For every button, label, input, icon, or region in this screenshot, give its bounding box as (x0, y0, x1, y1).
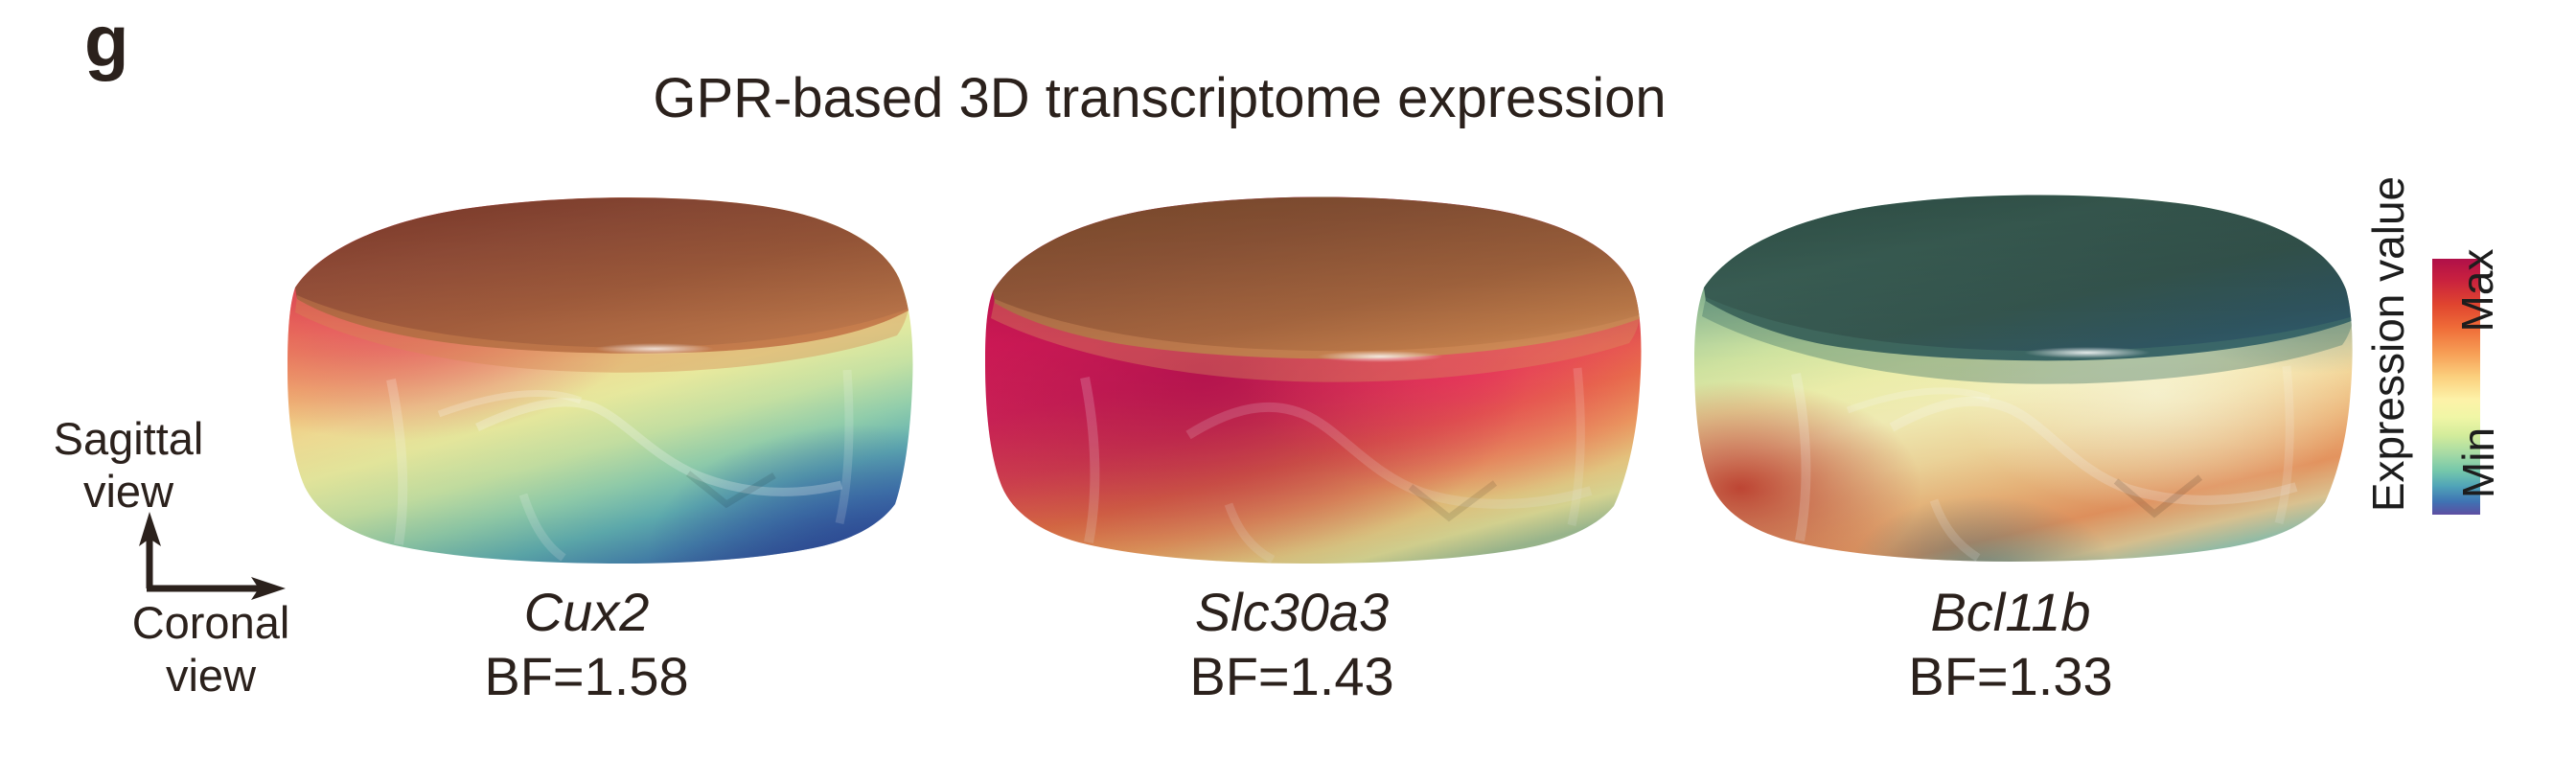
gene-bf-cux2: BF=1.58 (328, 647, 845, 707)
coronal-view-label-line1: Coronal (132, 597, 290, 648)
brain-surface-slc30a3 (977, 188, 1648, 583)
colorbar-min-label: Min (2456, 405, 2500, 520)
panel-letter: g (84, 6, 127, 79)
colorbar-max-label: Max (2455, 233, 2499, 348)
colorbar-axis-title: Expression value (2366, 104, 2410, 584)
gene-name-cux2: Cux2 (328, 583, 845, 643)
brain-surface-slc30a3-svg (977, 188, 1648, 583)
gene-name-bcl11b: Bcl11b (1752, 583, 2269, 643)
coronal-view-label-line2: view (166, 650, 256, 701)
brain-surface-bcl11b-svg (1687, 188, 2357, 583)
figure-title: GPR-based 3D transcriptome expression (0, 71, 2319, 127)
gene-caption-slc30a3: Slc30a3 BF=1.43 (1033, 583, 1551, 706)
gene-bf-bcl11b: BF=1.33 (1752, 647, 2269, 707)
gene-name-slc30a3: Slc30a3 (1033, 583, 1551, 643)
expression-colorbar-legend: Expression value Max Min (2338, 104, 2576, 602)
brain-surface-bcl11b (1687, 188, 2357, 583)
sagittal-axis-arrow (139, 512, 161, 588)
figure-panel-g: g GPR-based 3D transcriptome expression (0, 0, 2576, 760)
coronal-view-label: Coronal view (100, 596, 322, 702)
gene-caption-cux2: Cux2 BF=1.58 (328, 583, 845, 706)
gene-caption-bcl11b: Bcl11b BF=1.33 (1752, 583, 2269, 706)
gene-bf-slc30a3: BF=1.43 (1033, 647, 1551, 707)
